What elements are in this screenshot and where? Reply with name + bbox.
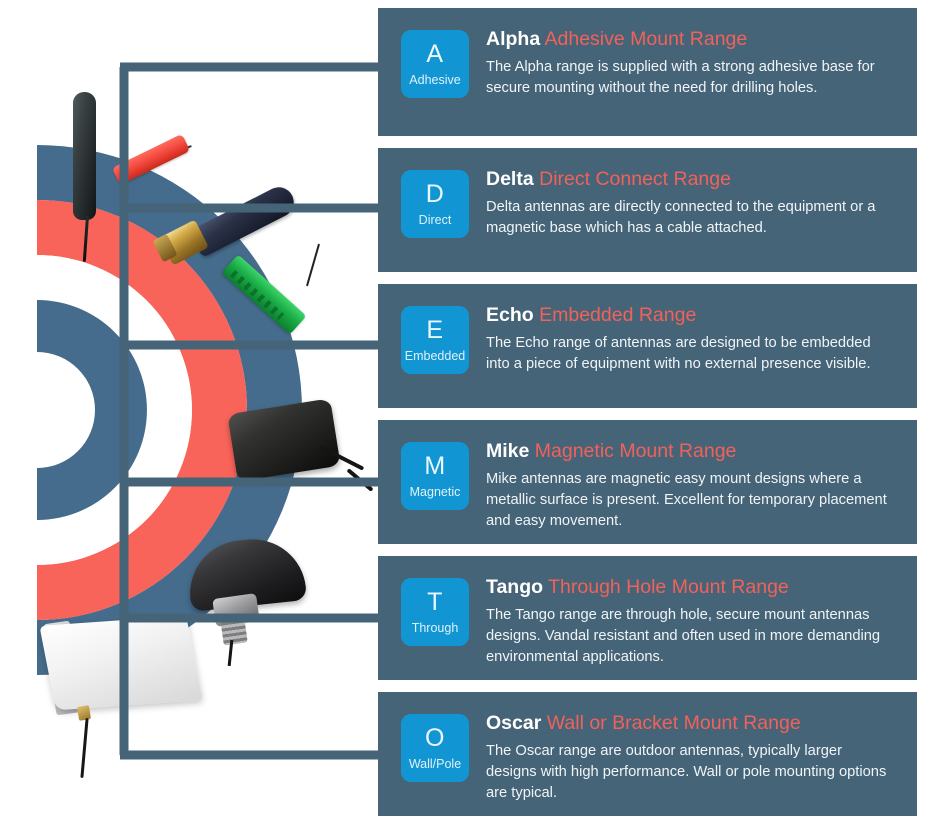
panel-text-block: Mike Magnetic Mount Range Mike antennas …	[486, 438, 895, 532]
badge-tango[interactable]: T Through	[401, 578, 469, 646]
panel-title: Echo Embedded Range	[486, 303, 895, 327]
panel-description: The Tango range are through hole, secure…	[486, 605, 895, 668]
panel-description: Mike antennas are magnetic easy mount de…	[486, 469, 895, 532]
range-panel-delta[interactable]: D Direct Delta Direct Connect Range Delt…	[378, 148, 917, 272]
panel-text-block: Tango Through Hole Mount Range The Tango…	[486, 574, 895, 668]
badge-letter: A	[426, 42, 443, 67]
illustration-panel	[0, 0, 390, 820]
range-panel-tango[interactable]: T Through Tango Through Hole Mount Range…	[378, 556, 917, 680]
badge-sublabel: Magnetic	[410, 486, 461, 499]
badge-sublabel: Embedded	[405, 350, 465, 363]
badge-letter: M	[424, 454, 445, 479]
badge-sublabel: Through	[412, 622, 459, 635]
badge-sublabel: Direct	[419, 214, 452, 227]
badge-alpha[interactable]: A Adhesive	[401, 30, 469, 98]
panel-title-text: Adhesive Mount Range	[545, 28, 748, 50]
panel-code: Tango	[486, 576, 543, 598]
panel-code: Delta	[486, 168, 534, 190]
panel-antenna-connector	[77, 705, 91, 721]
panel-description: The Oscar range are outdoor antennas, ty…	[486, 741, 895, 804]
panel-title-text: Wall or Bracket Mount Range	[547, 712, 801, 734]
panel-title: Delta Direct Connect Range	[486, 167, 895, 191]
badge-sublabel: Wall/Pole	[409, 758, 461, 771]
badge-echo[interactable]: E Embedded	[401, 306, 469, 374]
range-panel-mike[interactable]: M Magnetic Mike Magnetic Mount Range Mik…	[378, 420, 917, 544]
panel-description: The Alpha range is supplied with a stron…	[486, 57, 895, 99]
badge-delta[interactable]: D Direct	[401, 170, 469, 238]
panel-code: Oscar	[486, 712, 541, 734]
panel-description: The Echo range of antennas are designed …	[486, 333, 895, 375]
badge-letter: T	[427, 590, 443, 615]
badge-letter: D	[426, 182, 445, 207]
panel-title-text: Through Hole Mount Range	[548, 576, 789, 598]
badge-letter: E	[426, 318, 443, 343]
range-panel-oscar[interactable]: O Wall/Pole Oscar Wall or Bracket Mount …	[378, 692, 917, 816]
range-panel-alpha[interactable]: A Adhesive Alpha Adhesive Mount Range Th…	[378, 8, 917, 136]
panel-text-block: Delta Direct Connect Range Delta antenna…	[486, 166, 895, 239]
panel-text-block: Alpha Adhesive Mount Range The Alpha ran…	[486, 26, 895, 99]
panel-text-block: Oscar Wall or Bracket Mount Range The Os…	[486, 710, 895, 804]
range-panel-echo[interactable]: E Embedded Echo Embedded Range The Echo …	[378, 284, 917, 408]
white-wall-mount-panel-antenna	[39, 616, 202, 711]
panel-description: Delta antennas are directly connected to…	[486, 197, 895, 239]
panel-code: Mike	[486, 440, 529, 462]
panel-code: Echo	[486, 304, 534, 326]
black-whip-antenna	[73, 92, 96, 220]
panel-title: Alpha Adhesive Mount Range	[486, 27, 895, 51]
badge-mike[interactable]: M Magnetic	[401, 442, 469, 510]
panel-title: Oscar Wall or Bracket Mount Range	[486, 711, 895, 735]
panel-title-text: Magnetic Mount Range	[535, 440, 737, 462]
dome-antenna-thread	[220, 616, 247, 645]
panel-code: Alpha	[486, 28, 540, 50]
badge-letter: O	[425, 726, 445, 751]
panel-title: Tango Through Hole Mount Range	[486, 575, 895, 599]
panel-text-block: Echo Embedded Range The Echo range of an…	[486, 302, 895, 375]
badge-sublabel: Adhesive	[409, 74, 460, 87]
panel-title: Mike Magnetic Mount Range	[486, 439, 895, 463]
badge-oscar[interactable]: O Wall/Pole	[401, 714, 469, 782]
panel-title-text: Embedded Range	[539, 304, 696, 326]
range-panel-list: A Adhesive Alpha Adhesive Mount Range Th…	[378, 0, 951, 820]
panel-title-text: Direct Connect Range	[539, 168, 731, 190]
